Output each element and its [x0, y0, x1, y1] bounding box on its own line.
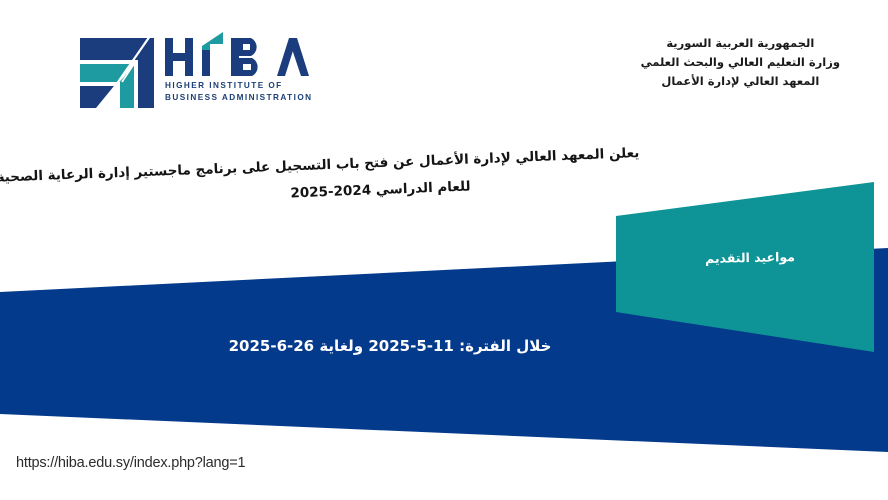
- hiba-wordmark-column: HIGHER INSTITUTE OF BUSINESS ADMINISTRAT…: [165, 30, 313, 104]
- announcement-heading: يعلن المعهد العالي لإدارة الأعمال عن فتح…: [119, 140, 641, 214]
- application-period-text: خلال الفترة: 11-5-2025 ولغاية 26-6-2025: [180, 337, 600, 355]
- ministry-line-ministry: وزارة التعليم العالي والبحث العلمي: [641, 53, 840, 72]
- teal-panel-shape: [616, 182, 874, 352]
- logo-subtitle-line-2: BUSINESS ADMINISTRATION: [165, 92, 313, 104]
- ministry-line-institute: المعهد العالي لإدارة الأعمال: [641, 72, 840, 91]
- hiba-wordmark-icon: [165, 32, 310, 80]
- ministry-line-country: الجمهورية العربية السورية: [641, 34, 840, 53]
- hiba-logo-mark-icon: [78, 30, 156, 110]
- announcement-slide: HIGHER INSTITUTE OF BUSINESS ADMINISTRAT…: [0, 0, 888, 500]
- logo-subtitle-line-1: HIGHER INSTITUTE OF: [165, 80, 283, 92]
- ministry-header: الجمهورية العربية السورية وزارة التعليم …: [641, 34, 840, 91]
- website-url-link[interactable]: https://hiba.edu.sy/index.php?lang=1: [16, 455, 245, 471]
- teal-panel-label: مواعيد التقديم: [640, 248, 860, 268]
- hiba-logo: HIGHER INSTITUTE OF BUSINESS ADMINISTRAT…: [78, 30, 313, 110]
